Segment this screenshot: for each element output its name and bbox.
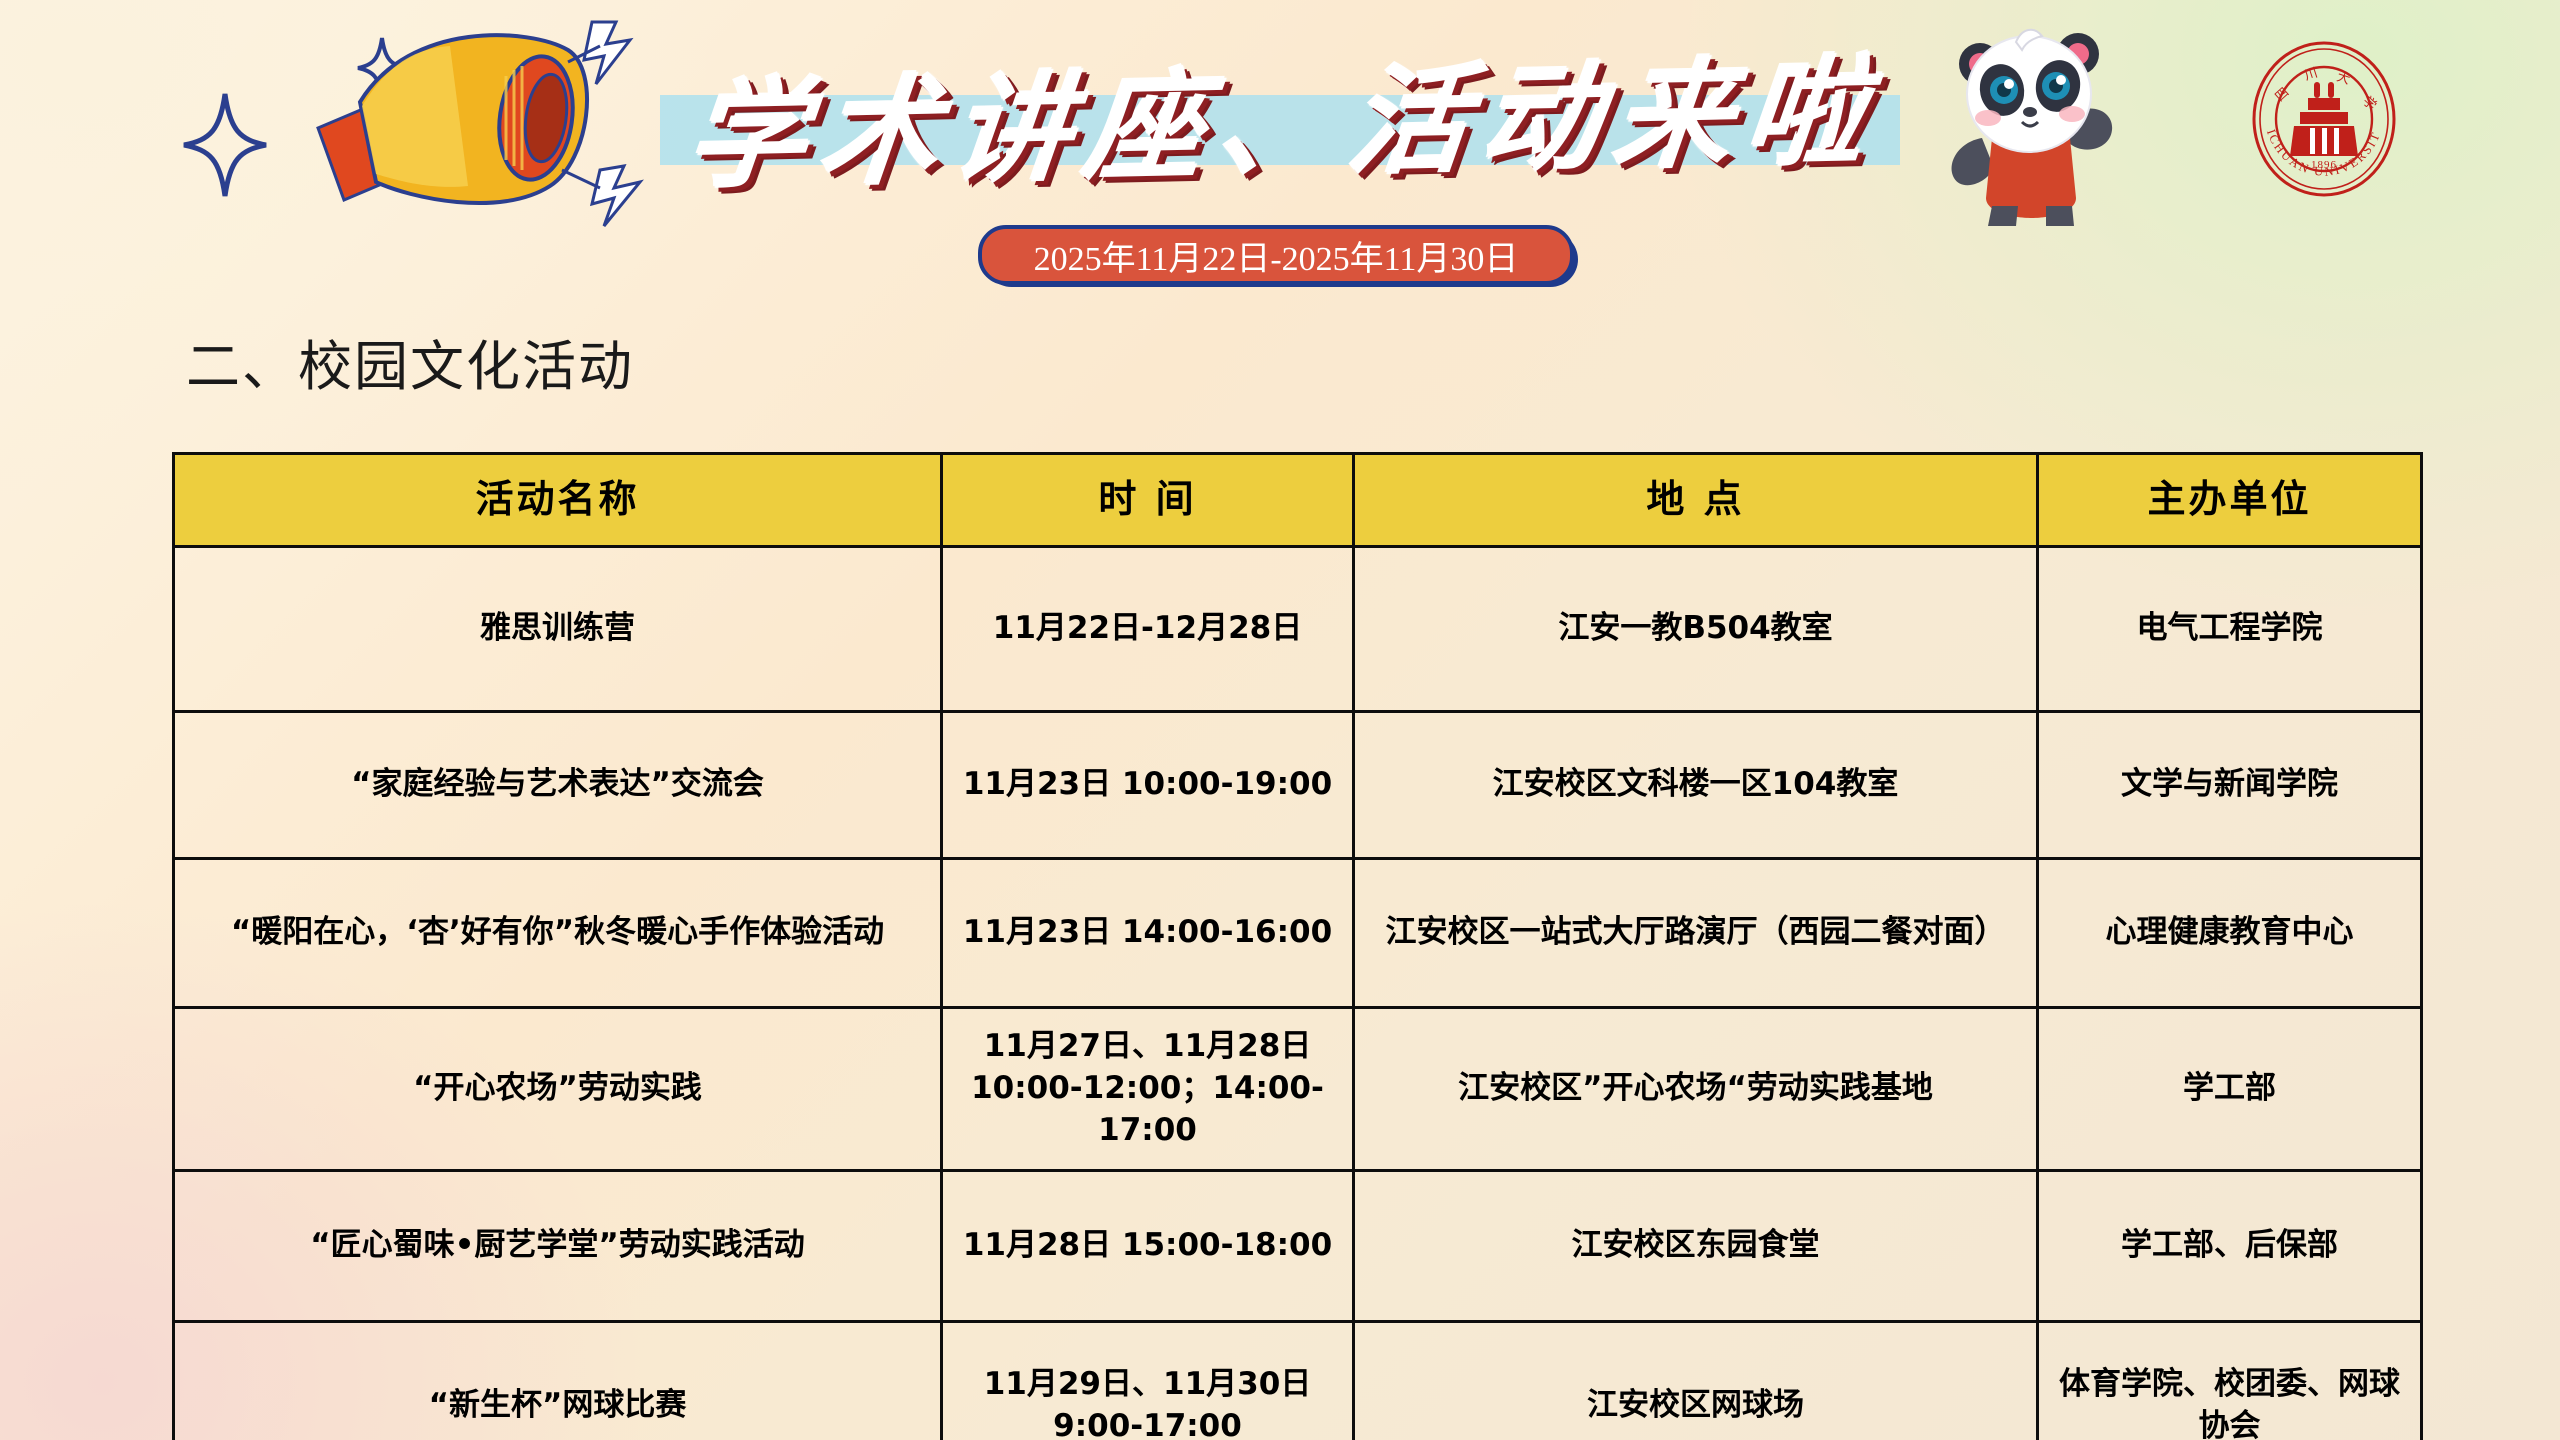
cell-place: 江安校区网球场 <box>1354 1322 2038 1440</box>
date-range-text: 2025年11月22日-2025年11月30日 <box>978 225 1574 285</box>
cell-activity-name: “暖阳在心，‘杏’好有你”秋冬暖心手作体验活动 <box>174 859 942 1008</box>
cell-place: 江安校区东园食堂 <box>1354 1171 2038 1322</box>
cell-activity-name: 雅思训练营 <box>174 547 942 712</box>
date-range-badge: 2025年11月22日-2025年11月30日 <box>978 225 1578 287</box>
table-row: “开心农场”劳动实践 11月27日、11月28日 10:00-12:00；14:… <box>174 1008 2422 1171</box>
cell-activity-name: “家庭经验与艺术表达”交流会 <box>174 712 942 859</box>
cell-activity-name: “开心农场”劳动实践 <box>174 1008 942 1171</box>
table-row: 雅思训练营 11月22日-12月28日 江安一教B504教室 电气工程学院 <box>174 547 2422 712</box>
column-header-time: 时 间 <box>942 454 1354 547</box>
svg-text:四: 四 <box>2272 84 2292 104</box>
panda-mascot-icon <box>1930 20 2130 230</box>
cell-time: 11月23日 14:00-16:00 <box>942 859 1354 1008</box>
svg-text:学: 学 <box>2360 93 2380 113</box>
column-header-activity-name: 活动名称 <box>174 454 942 547</box>
cell-time: 11月29日、11月30日 9:00-17:00 <box>942 1322 1354 1440</box>
cell-organizer: 文学与新闻学院 <box>2038 712 2422 859</box>
megaphone-icon <box>300 10 690 230</box>
section-heading: 二、校园文化活动 <box>186 322 634 401</box>
cell-organizer: 学工部、后保部 <box>2038 1171 2422 1322</box>
cell-place: 江安校区一站式大厅路演厅（西园二餐对面） <box>1354 859 2038 1008</box>
table-row: “家庭经验与艺术表达”交流会 11月23日 10:00-19:00 江安校区文科… <box>174 712 2422 859</box>
sichuan-university-seal-icon: 四 川 大 学 1896 SICHUAN UNIVERSITY <box>2250 40 2398 198</box>
cell-organizer: 电气工程学院 <box>2038 547 2422 712</box>
cell-time: 11月22日-12月28日 <box>942 547 1354 712</box>
table-row: “新生杯”网球比赛 11月29日、11月30日 9:00-17:00 江安校区网… <box>174 1322 2422 1440</box>
cell-time: 11月28日 15:00-18:00 <box>942 1171 1354 1322</box>
cell-place: 江安一教B504教室 <box>1354 547 2038 712</box>
activities-table: 活动名称 时 间 地 点 主办单位 雅思训练营 11月22日-12月28日 江安… <box>172 452 2423 1440</box>
column-header-organizer: 主办单位 <box>2038 454 2422 547</box>
column-header-place: 地 点 <box>1354 454 2038 547</box>
poster-page: 学术讲座、活动来啦 2025年11月22日-2025年11月30日 <box>0 0 2560 1440</box>
activities-table-wrapper: 活动名称 时 间 地 点 主办单位 雅思训练营 11月22日-12月28日 江安… <box>172 452 2420 1440</box>
table-row: “暖阳在心，‘杏’好有你”秋冬暖心手作体验活动 11月23日 14:00-16:… <box>174 859 2422 1008</box>
sparkle-icon <box>180 90 270 200</box>
poster-header: 学术讲座、活动来啦 2025年11月22日-2025年11月30日 <box>0 0 2560 330</box>
cell-activity-name: “匠心蜀味•厨艺学堂”劳动实践活动 <box>174 1171 942 1322</box>
cell-time: 11月27日、11月28日 10:00-12:00；14:00-17:00 <box>942 1008 1354 1171</box>
cell-activity-name: “新生杯”网球比赛 <box>174 1322 942 1440</box>
cell-organizer: 学工部 <box>2038 1008 2422 1171</box>
svg-text:大: 大 <box>2335 69 2352 87</box>
page-title: 学术讲座、活动来啦 <box>651 25 1919 201</box>
table-row: “匠心蜀味•厨艺学堂”劳动实践活动 11月28日 15:00-18:00 江安校… <box>174 1171 2422 1322</box>
cell-place: 江安校区文科楼一区104教室 <box>1354 712 2038 859</box>
table-header-row: 活动名称 时 间 地 点 主办单位 <box>174 454 2422 547</box>
cell-time: 11月23日 10:00-19:00 <box>942 712 1354 859</box>
cell-organizer: 心理健康教育中心 <box>2038 859 2422 1008</box>
cell-organizer: 体育学院、校团委、网球协会 <box>2038 1322 2422 1440</box>
cell-place: 江安校区”开心农场“劳动实践基地 <box>1354 1008 2038 1171</box>
